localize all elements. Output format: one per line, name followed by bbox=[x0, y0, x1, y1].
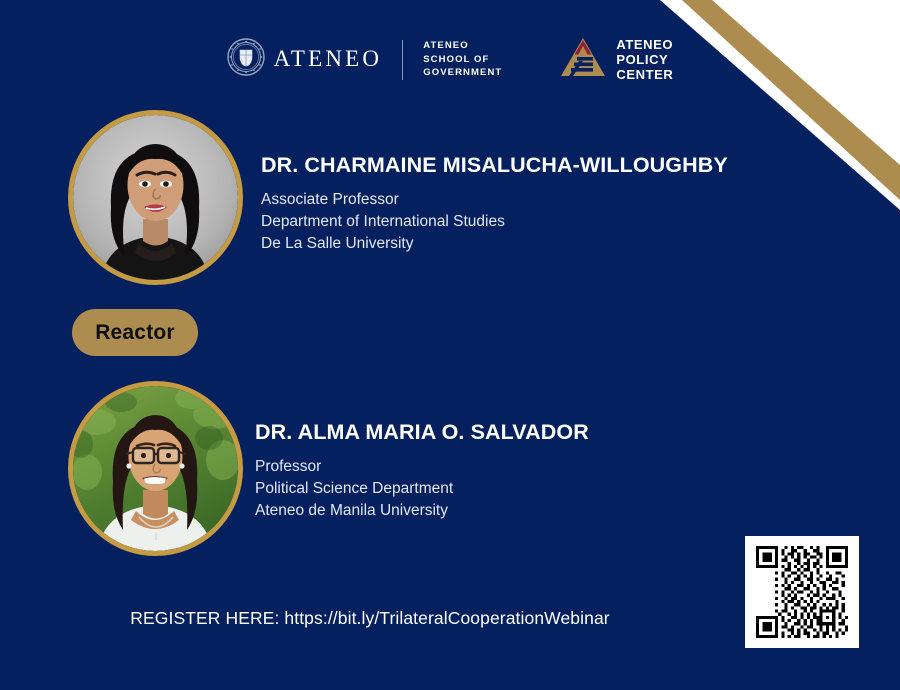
speaker-2-line-1: Professor bbox=[255, 456, 589, 478]
ateneo-wordmark: ATENEO bbox=[274, 47, 383, 72]
speaker-name-1: DR. CHARMAINE MISALUCHA-WILLOUGHBY bbox=[261, 154, 728, 178]
speaker-portrait-alma bbox=[68, 381, 243, 556]
asog-line-1: ATENEO bbox=[423, 39, 502, 52]
speaker-1-line-3: De La Salle University bbox=[261, 233, 728, 255]
status-badge-reactor: Reactor bbox=[72, 309, 198, 356]
asog-line-3: GOVERNMENT bbox=[423, 66, 502, 79]
register-link-text[interactable]: REGISTER HERE: https://bit.ly/Trilateral… bbox=[0, 608, 740, 629]
apc-line-2: POLICY bbox=[616, 52, 673, 67]
speaker-2-line-2: Political Science Department bbox=[255, 478, 589, 500]
ateneo-seal-icon bbox=[227, 38, 265, 81]
ateneo-policy-center-logo: ATENEO POLICY CENTER bbox=[560, 36, 673, 83]
logo-bar: ATENEO ATENEO SCHOOL OF GOVERNMENT bbox=[0, 36, 900, 83]
portrait-gold-ring bbox=[68, 110, 243, 285]
speaker-block-1: DR. CHARMAINE MISALUCHA-WILLOUGHBY Assoc… bbox=[68, 110, 728, 285]
speaker-1-line-1: Associate Professor bbox=[261, 189, 728, 211]
speaker-1-line-2: Department of International Studies bbox=[261, 211, 728, 233]
asog-line-2: SCHOOL OF bbox=[423, 53, 502, 66]
speaker-text-2: DR. ALMA MARIA O. SALVADOR Professor Pol… bbox=[255, 381, 589, 523]
apc-lines: ATENEO POLICY CENTER bbox=[616, 37, 673, 82]
speaker-text-1: DR. CHARMAINE MISALUCHA-WILLOUGHBY Assoc… bbox=[261, 110, 728, 256]
logo-divider bbox=[402, 40, 403, 80]
asog-lines: ATENEO SCHOOL OF GOVERNMENT bbox=[423, 39, 502, 79]
speaker-block-2: DR. ALMA MARIA O. SALVADOR Professor Pol… bbox=[68, 381, 589, 556]
portrait-photo-1 bbox=[73, 115, 238, 280]
speaker-name-2: DR. ALMA MARIA O. SALVADOR bbox=[255, 421, 589, 445]
qr-code-icon[interactable] bbox=[745, 536, 859, 648]
portrait-photo-2 bbox=[73, 386, 238, 551]
webinar-poster: ATENEO ATENEO SCHOOL OF GOVERNMENT bbox=[0, 0, 900, 690]
ateneo-policy-center-triangle-icon bbox=[560, 36, 606, 83]
apc-line-1: ATENEO bbox=[616, 37, 673, 52]
speaker-portrait-charmaine bbox=[68, 110, 243, 285]
reactor-badge-label: Reactor bbox=[95, 321, 175, 345]
speaker-2-line-3: Ateneo de Manila University bbox=[255, 500, 589, 522]
portrait-gold-ring bbox=[68, 381, 243, 556]
ateneo-school-of-government-logo: ATENEO ATENEO SCHOOL OF GOVERNMENT bbox=[227, 38, 503, 81]
apc-line-3: CENTER bbox=[616, 67, 673, 82]
